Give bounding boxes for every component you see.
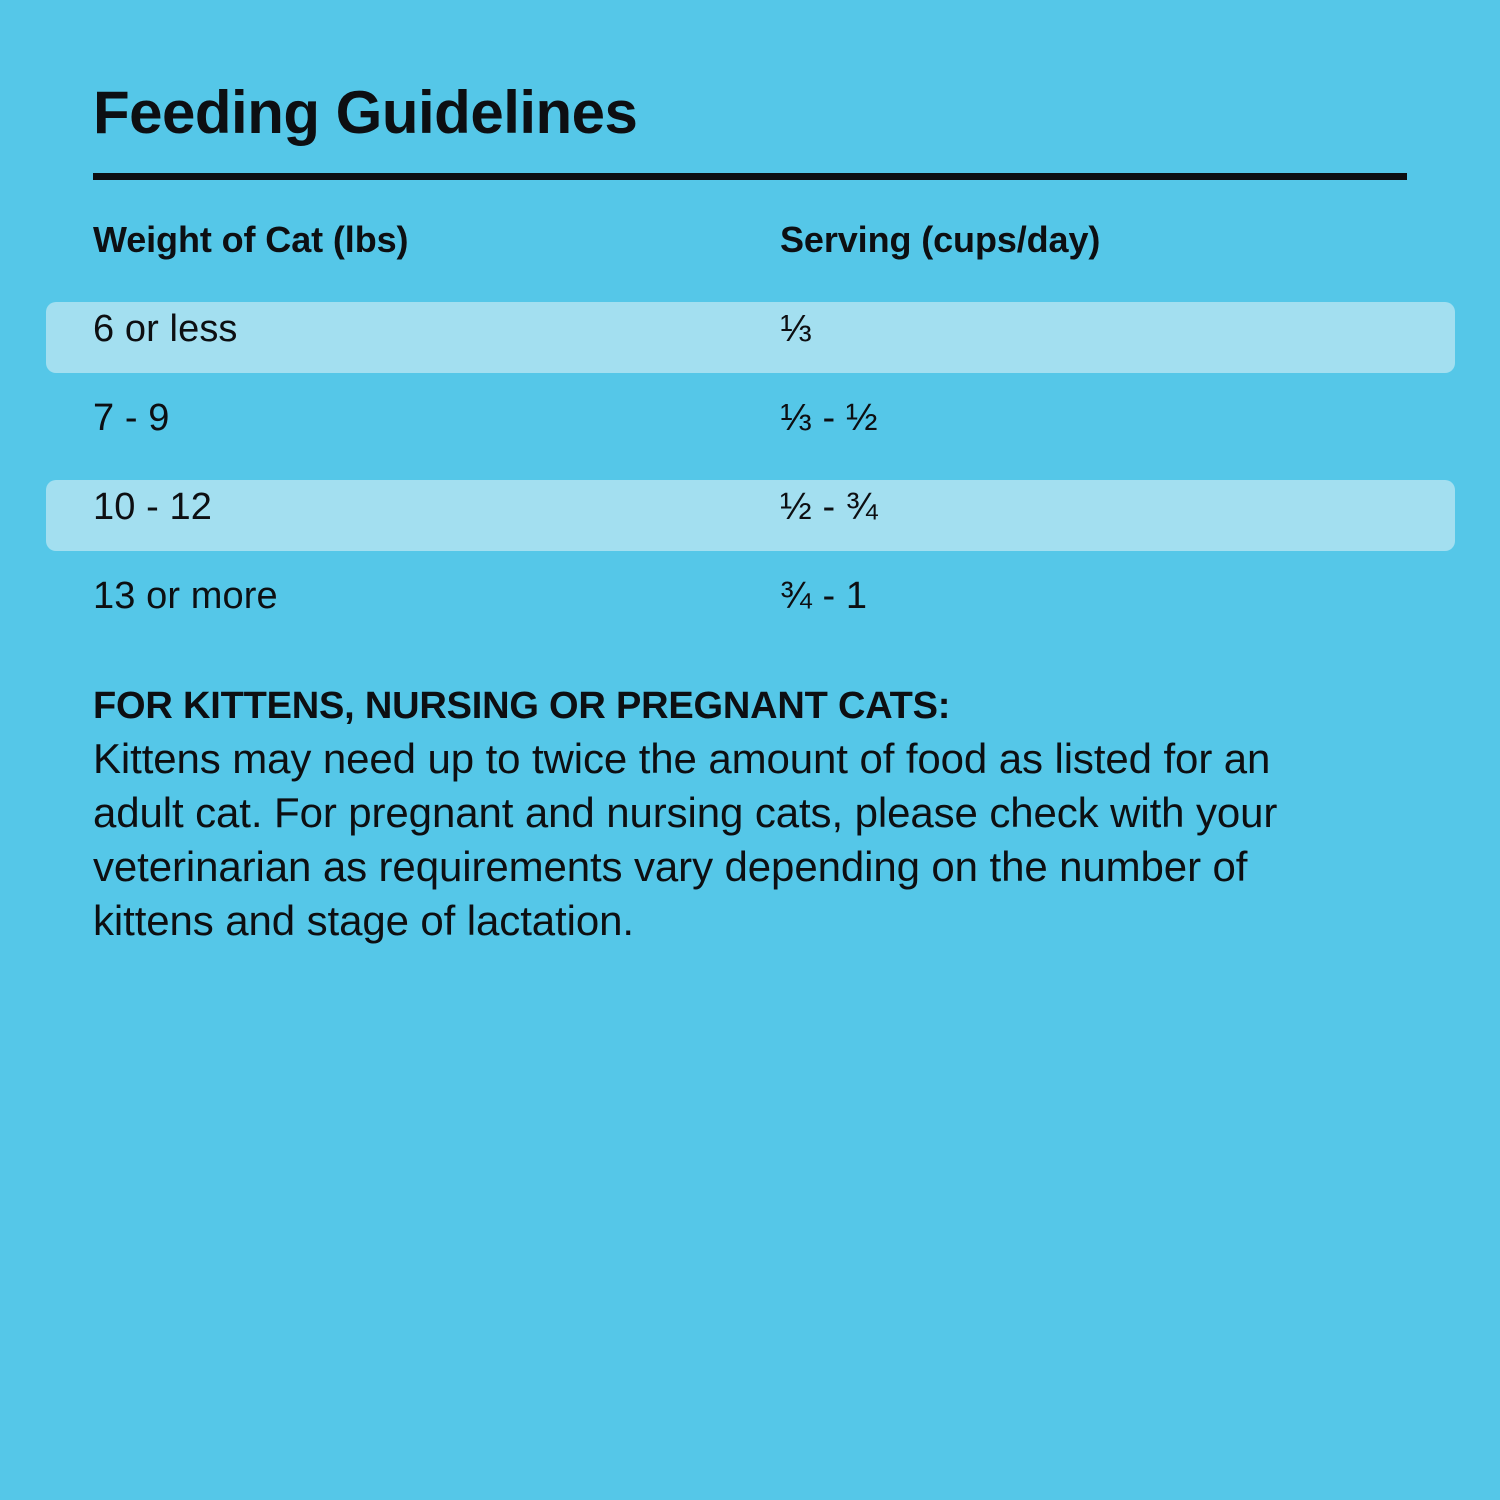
feeding-guidelines-panel: Feeding Guidelines Weight of Cat (lbs) S… bbox=[0, 0, 1500, 1500]
kitten-note-heading: FOR KITTENS, NURSING OR PREGNANT CATS: bbox=[93, 684, 1343, 729]
column-header-weight: Weight of Cat (lbs) bbox=[93, 219, 408, 261]
row-highlight bbox=[46, 480, 1455, 551]
column-header-serving: Serving (cups/day) bbox=[780, 219, 1100, 261]
cell-serving: ⅓ - ½ bbox=[780, 397, 878, 440]
table-row: 7 - 9 ⅓ - ½ bbox=[0, 391, 1500, 480]
page-title: Feeding Guidelines bbox=[93, 81, 637, 144]
table-row: 13 or more ¾ - 1 bbox=[0, 569, 1500, 658]
cell-weight: 7 - 9 bbox=[93, 397, 170, 440]
cell-weight: 10 - 12 bbox=[93, 486, 212, 529]
cell-serving: ¾ - 1 bbox=[780, 575, 867, 618]
feeding-table: Weight of Cat (lbs) Serving (cups/day) 6… bbox=[0, 213, 1500, 658]
row-highlight bbox=[46, 302, 1455, 373]
cell-serving: ⅓ bbox=[780, 308, 812, 351]
cell-weight: 6 or less bbox=[93, 308, 238, 351]
table-row: 10 - 12 ½ - ¾ bbox=[0, 480, 1500, 569]
table-body: 6 or less ⅓ 7 - 9 ⅓ - ½ 10 - 12 ½ - ¾ 13… bbox=[0, 302, 1500, 658]
title-divider bbox=[93, 173, 1407, 180]
row-highlight bbox=[46, 391, 1455, 462]
table-header-row: Weight of Cat (lbs) Serving (cups/day) bbox=[0, 213, 1500, 302]
cell-serving: ½ - ¾ bbox=[780, 486, 878, 529]
kitten-note: FOR KITTENS, NURSING OR PREGNANT CATS: K… bbox=[93, 684, 1343, 948]
table-row: 6 or less ⅓ bbox=[0, 302, 1500, 391]
kitten-note-body: Kittens may need up to twice the amount … bbox=[93, 732, 1343, 948]
cell-weight: 13 or more bbox=[93, 575, 278, 618]
